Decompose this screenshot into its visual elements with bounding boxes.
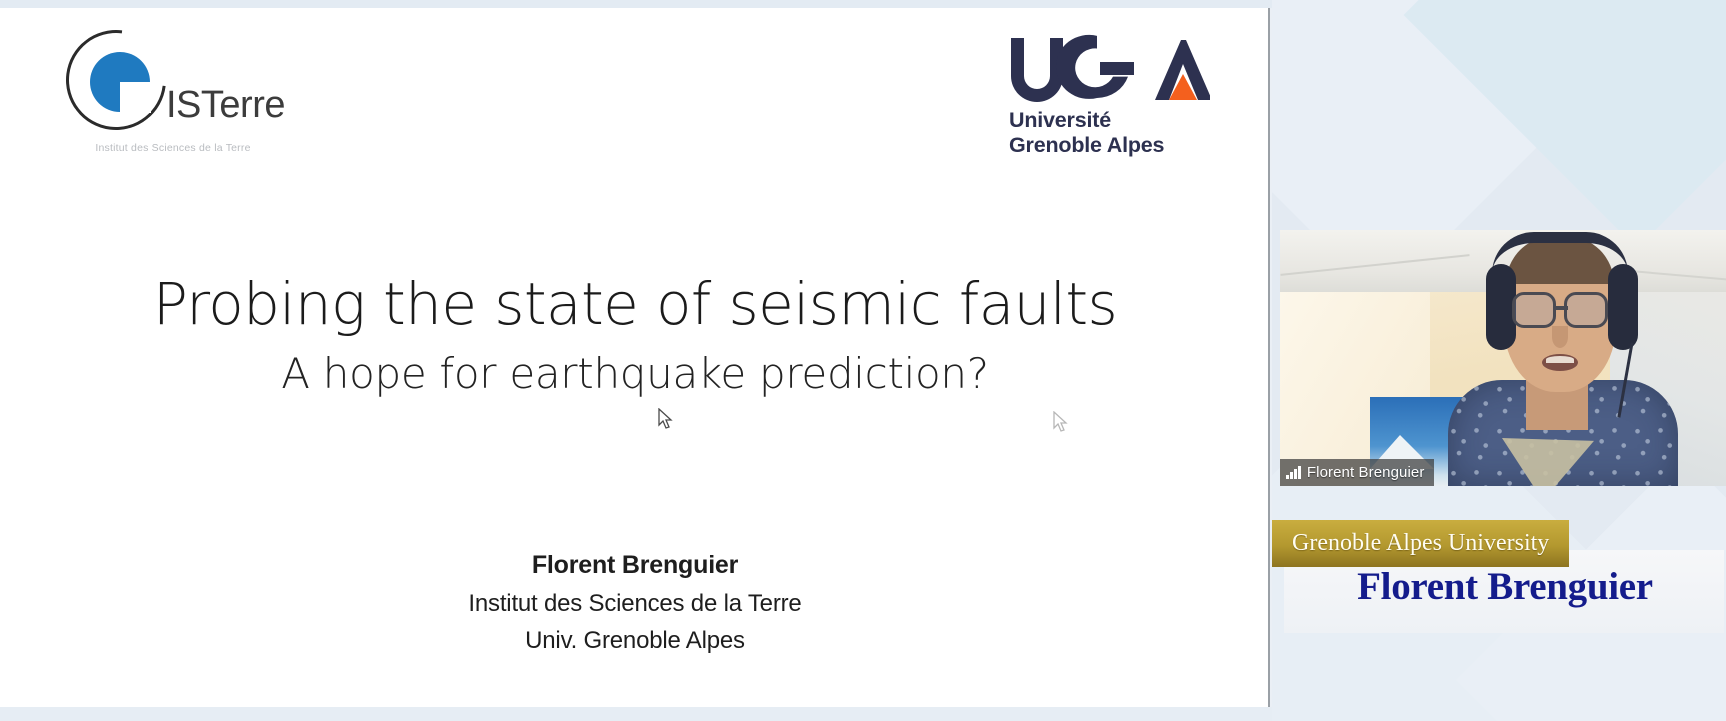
uga-line-2: Grenoble Alpes (1009, 133, 1219, 158)
author-affiliation-line-1: Institut des Sciences de la Terre (0, 590, 1270, 618)
uga-wordmark: Université Grenoble Alpes (1009, 108, 1219, 158)
isterre-logo: ISTerre Institut des Sciences de la Terr… (62, 22, 262, 162)
signal-bars-icon (1286, 466, 1301, 479)
slide-subtitle: A hope for earthquake prediction? (0, 349, 1270, 398)
slide-author-block: Florent Brenguier Institut des Sciences … (0, 551, 1270, 655)
uga-line-1: Université (1009, 108, 1219, 133)
slide-title: Probing the state of seismic faults (0, 270, 1270, 338)
participant-teeth (1546, 356, 1574, 363)
screen-share-region[interactable]: ISTerre Institut des Sciences de la Terr… (0, 0, 1272, 721)
participant-panel: Florent Brenguier Grenoble Alpes Univers… (1272, 0, 1726, 721)
presentation-slide[interactable]: ISTerre Institut des Sciences de la Terr… (0, 8, 1270, 707)
share-top-band (0, 0, 1272, 8)
headphone-earcup-right-icon (1608, 264, 1638, 350)
participant-nose (1552, 326, 1568, 348)
isterre-wordmark: ISTerre (166, 84, 285, 127)
share-bottom-band (0, 707, 1272, 721)
uga-logo: Université Grenoble Alpes (1005, 34, 1220, 162)
name-card-name: Florent Brenguier (1290, 564, 1720, 609)
meeting-screen: ISTerre Institut des Sciences de la Terr… (0, 0, 1726, 721)
mouse-cursor-icon (657, 408, 673, 430)
isterre-tagline: Institut des Sciences de la Terre (68, 142, 278, 154)
glasses-lens-right-icon (1564, 292, 1608, 328)
isterre-disc-notch-icon (120, 82, 151, 113)
video-participant-name: Florent Brenguier (1307, 464, 1425, 481)
uga-monogram-icon (1005, 34, 1210, 104)
lower-third-name-card: Grenoble Alpes University Florent Brengu… (1272, 520, 1726, 635)
video-name-label: Florent Brenguier (1280, 459, 1434, 486)
mouse-cursor-secondary-icon (1052, 411, 1068, 433)
author-name: Florent Brenguier (0, 551, 1270, 580)
headphone-band-icon (1492, 232, 1628, 274)
name-card-affiliation: Grenoble Alpes University (1272, 520, 1569, 567)
glasses-lens-left-icon (1512, 292, 1556, 328)
glasses-bridge-icon (1554, 306, 1568, 310)
video-tile-florent-brenguier[interactable]: Florent Brenguier (1280, 230, 1726, 486)
author-affiliation-line-2: Univ. Grenoble Alpes (0, 627, 1270, 655)
